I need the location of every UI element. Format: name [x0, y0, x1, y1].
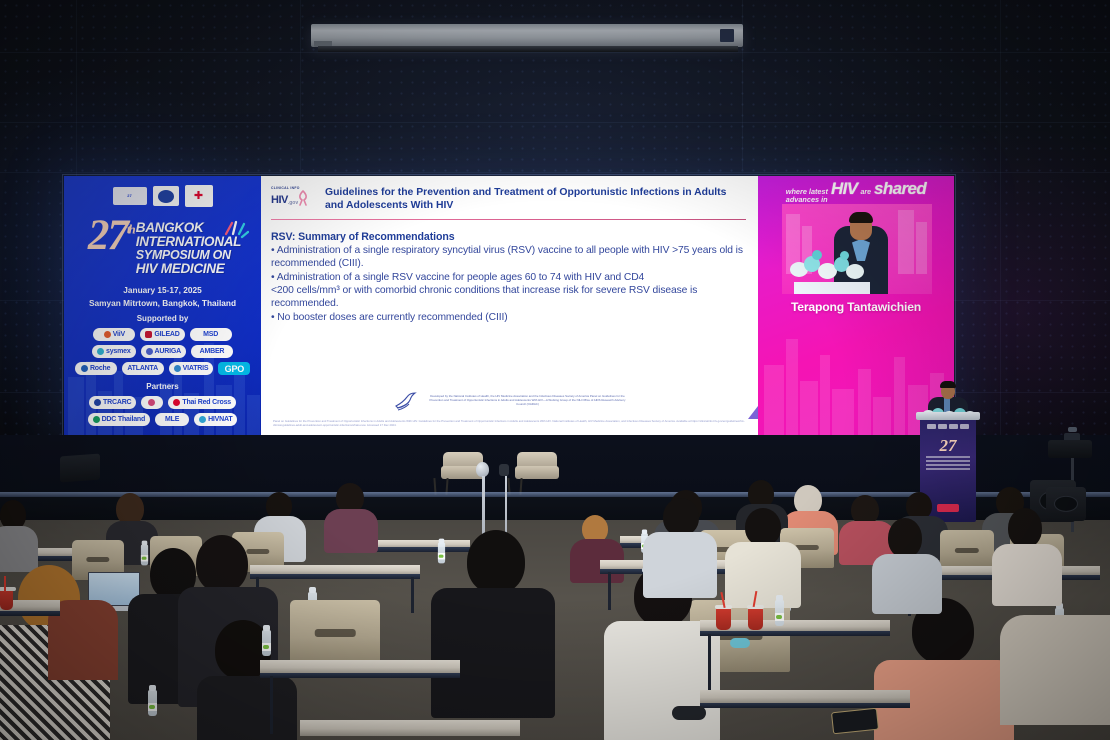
drink-cup	[716, 608, 731, 630]
speaker-name: Terapong Tantawichien	[758, 300, 954, 314]
lectern-text-block	[926, 456, 970, 472]
header-divider	[271, 219, 746, 220]
trc-arc-logo-icon	[153, 186, 179, 206]
presenter-hair	[940, 381, 956, 388]
poster-ordinal: th	[127, 222, 134, 237]
audience-chair	[290, 600, 380, 668]
partners-label: Partners	[64, 382, 261, 391]
screenshot-root: 27 ✚ 27th BANGKOK INTERNATIONAL SYMPOSIU…	[0, 0, 1110, 740]
projection-screen: 27 ✚ 27th BANGKOK INTERNATIONAL SYMPOSIU…	[64, 176, 954, 435]
podium-flower-arrangement	[788, 248, 876, 284]
hivgov-logo-icon: CLINICAL INFO HIV .gov	[271, 184, 317, 206]
partner-logo-grid: TRCARC Thai Red Cross DDC Thailand MLE H…	[64, 391, 261, 426]
recommendation-bullet: <200 cells/mm³ or with comorbid chronic …	[271, 284, 746, 297]
speaker-hair	[849, 212, 873, 223]
sponsor-logo-roche: Roche	[75, 362, 117, 375]
light-bar-shadow	[318, 46, 738, 52]
supported-by-label: Supported by	[64, 314, 261, 323]
poster-header-logos: 27 ✚	[64, 185, 261, 207]
recommendation-bullet: • No booster doses are currently recomme…	[271, 311, 746, 324]
sponsor-logo-auriga: AURIGA	[141, 345, 186, 358]
tagline-are: are	[861, 189, 872, 196]
slide-corner-accent	[748, 406, 758, 419]
bangkok-symposium-logo-icon: 27	[113, 187, 147, 205]
sponsor-logo-gilead: GILEAD	[140, 328, 184, 341]
drink-cup	[0, 590, 13, 610]
ceiling-light-bar	[311, 24, 743, 47]
supporter-logo-grid: ViiV GILEAD MSD sysmex AURIGA AMBER Roch…	[64, 323, 261, 375]
stage-monitor	[60, 454, 100, 483]
sponsor-logo-viiv: ViiV	[93, 328, 135, 341]
recommendation-list: • Administration of a single respiratory…	[271, 244, 746, 324]
developed-by-text: Developed by the National Institutes of …	[428, 395, 628, 407]
partner-logo-ias	[141, 396, 163, 409]
citation-text: Panel on Guidelines for the Prevention a…	[273, 419, 746, 427]
small-object	[730, 638, 750, 648]
sponsor-logo-msd: MSD	[190, 328, 232, 341]
poster-title-line4: HIV MEDICINE	[136, 262, 241, 276]
aids-ribbon-icon	[297, 190, 309, 206]
lectern-badge	[937, 504, 959, 512]
speaker-panel: where latest advances in HIV are shared	[758, 176, 954, 435]
partner-logo-trcarc: TRCARC	[89, 396, 136, 409]
sponsor-logo-atlanta: ATLANTA	[122, 362, 164, 375]
partner-logo-ddc: DDC Thailand	[88, 413, 151, 426]
water-bottle	[438, 543, 445, 564]
partner-logo-thai-red-cross: Thai Red Cross	[168, 396, 236, 409]
speaker-photo	[782, 204, 932, 294]
poster-event-details: January 15-17, 2025 Samyan Mitrtown, Ban…	[64, 284, 261, 310]
sparkle-icon	[223, 220, 249, 242]
lectern-sponsor-strip	[924, 424, 972, 430]
drink-straw	[4, 576, 6, 592]
sponsor-logo-gpo: GPO	[218, 362, 250, 375]
tagline-hiv: HIV	[831, 180, 858, 197]
section-heading: RSV: Summary of Recommendations	[271, 231, 746, 243]
drink-cup	[748, 608, 763, 630]
poster-edition-number: 27	[88, 212, 127, 259]
stage-monitor	[1048, 440, 1092, 458]
poster-title-line3: SYMPOSIUM ON	[136, 249, 241, 262]
eyeglasses	[672, 706, 706, 720]
poster-location: Samyan Mitrtown, Bangkok, Thailand	[64, 297, 261, 310]
thai-red-cross-logo-icon: ✚	[185, 185, 213, 207]
water-bottle	[141, 545, 148, 566]
photo-podium	[794, 282, 870, 294]
audience-table	[300, 720, 520, 736]
tagline-shared: shared	[874, 180, 926, 197]
sponsor-logo-sysmex: sysmex	[92, 345, 136, 358]
recommendation-bullet: • Administration of a single respiratory…	[271, 244, 746, 271]
slide-header: CLINICAL INFO HIV .gov Guidelines for th…	[271, 184, 746, 213]
water-bottle	[775, 600, 784, 626]
loudspeaker	[1046, 487, 1086, 521]
partner-logo-hivnat: HIVNAT	[194, 413, 237, 426]
recommendation-bullet: recommended.	[271, 297, 746, 310]
sponsor-logo-viatris: VIATRIS	[169, 362, 214, 375]
water-bottle	[148, 690, 157, 716]
conference-tagline: where latest advances in HIV are shared	[758, 180, 954, 204]
supported-by-section: Supported by ViiV GILEAD MSD sysmex AURI…	[64, 314, 261, 375]
poster-dates: January 15-17, 2025	[64, 284, 261, 297]
lectern-top	[916, 412, 980, 420]
guideline-slide-panel: CLINICAL INFO HIV .gov Guidelines for th…	[261, 176, 758, 435]
conference-poster-panel: 27 ✚ 27th BANGKOK INTERNATIONAL SYMPOSIU…	[64, 176, 261, 435]
recommendation-bullet: • Administration of a single RSV vaccine…	[271, 271, 746, 284]
audience-table	[260, 660, 460, 674]
hhs-eagle-logo-icon	[392, 389, 418, 413]
water-bottle	[262, 630, 271, 656]
guideline-title: Guidelines for the Prevention and Treatm…	[325, 184, 746, 213]
partner-logo-mle: MLE	[155, 413, 189, 426]
slide-footer: Developed by the National Institutes of …	[273, 389, 746, 427]
audience-table	[700, 690, 910, 704]
audience-table	[250, 565, 420, 575]
attribution-row: Developed by the National Institutes of …	[273, 389, 746, 413]
sponsor-logo-amber: AMBER	[191, 345, 233, 358]
partners-section: Partners TRCARC Thai Red Cross DDC Thail…	[64, 382, 261, 426]
lectern-edition-number: 27	[920, 436, 976, 456]
light-bar-sensor	[720, 29, 734, 42]
